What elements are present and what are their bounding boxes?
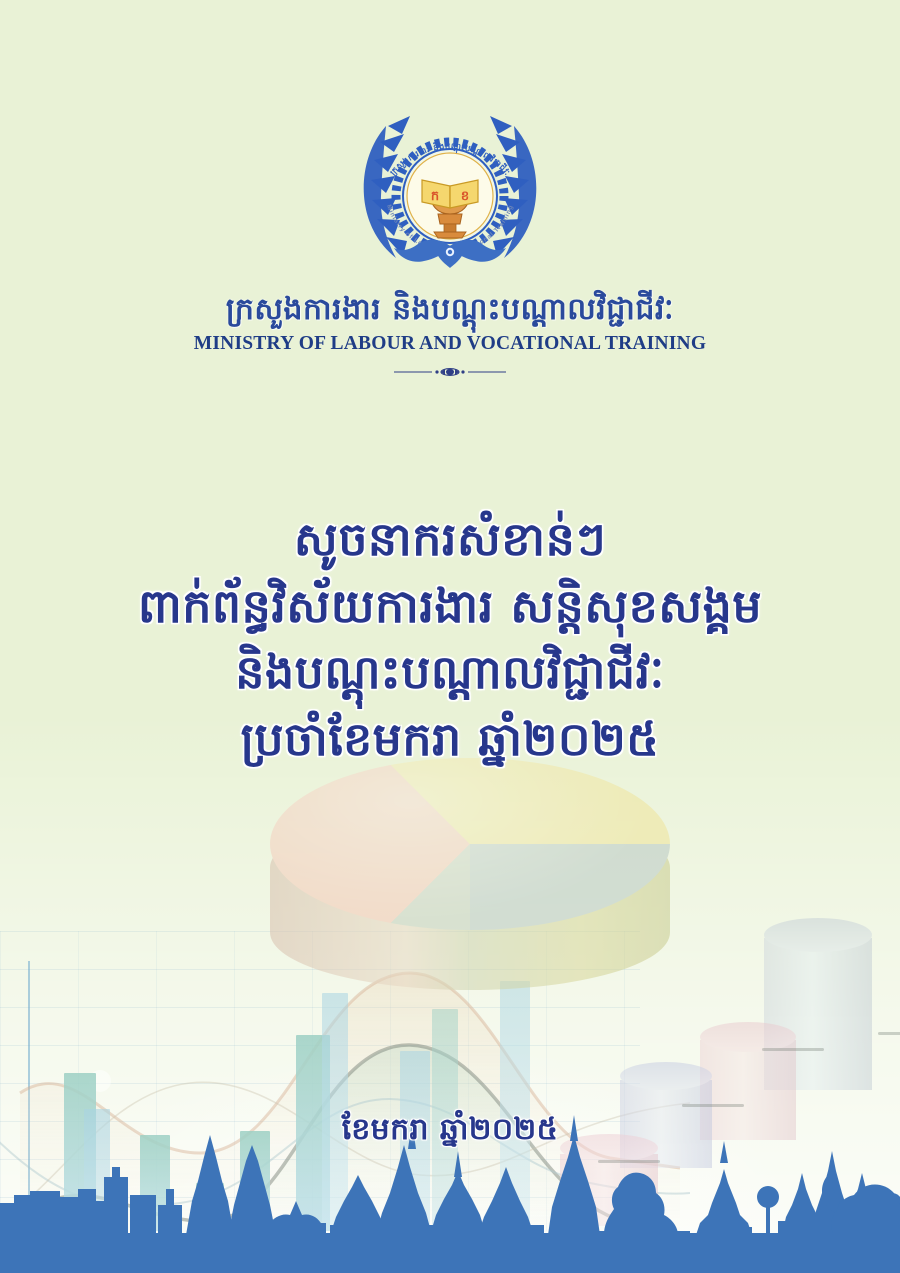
- pie-chart-watermark: [246, 740, 696, 1040]
- document-title: សូចនាករសំខាន់ៗ ពាក់ព័ន្ធវិស័យការងារ សន្ត…: [40, 506, 860, 773]
- title-line-2: ពាក់ព័ន្ធវិស័យការងារ សន្តិសុខសង្គម: [40, 573, 860, 640]
- title-line-1: សូចនាករសំខាន់ៗ: [40, 506, 860, 573]
- publication-date: ខែមករា ឆ្នាំ២០២៥: [0, 1110, 900, 1154]
- axis-tick: [762, 1048, 824, 1051]
- pie-top: [270, 758, 670, 930]
- book-glyph-right: ខ: [461, 189, 469, 204]
- ornamental-divider: [390, 365, 510, 379]
- title-line-3: និងបណ្តុះបណ្តាលវិជ្ជាជីវៈ: [40, 639, 860, 706]
- pie-highlight: [270, 758, 670, 930]
- document-cover: ក្រសួងការងារ និងបណ្តុះបណ្តាលវិជ្ជាជីវៈ ◦…: [0, 0, 900, 1273]
- axis-tick: [878, 1032, 900, 1035]
- bottom-blue-band: [0, 1233, 900, 1273]
- organization-name-khmer: ក្រសួងការងារ និងបណ្តុះបណ្តាលវិជ្ជាជីវៈ: [0, 291, 900, 329]
- book-glyph-left: ក: [431, 189, 439, 204]
- cylinder-watermark: [764, 918, 872, 1090]
- pie-side: [270, 810, 670, 990]
- ministry-emblem: ក្រសួងការងារ និងបណ្តុះបណ្តាលវិជ្ជាជីវៈ ◦…: [350, 96, 550, 281]
- organization-name-english: MINISTRY OF LABOUR AND VOCATIONAL TRAINI…: [0, 333, 900, 355]
- date-text: ខែមករា ឆ្នាំ២០២៥: [342, 1112, 559, 1147]
- logo-header-block: ក្រសួងការងារ និងបណ្តុះបណ្តាលវិជ្ជាជីវៈ ◦…: [0, 96, 900, 383]
- title-line-4: ប្រចាំខែមករា ឆ្នាំ២០២៥: [40, 706, 860, 773]
